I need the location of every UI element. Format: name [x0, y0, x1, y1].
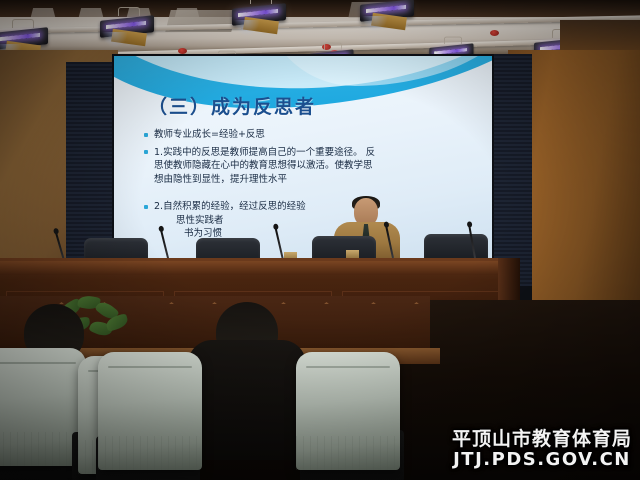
light-yoke [444, 37, 462, 44]
bullet-dot-icon [144, 133, 148, 137]
bullet-line: 教师专业成长=经验+反思 [154, 128, 478, 142]
light-yoke [12, 19, 34, 28]
photo-scene: （三）成为反思者 教师专业成长=经验+反思 1.实践中的反思是教师提高自己的一个… [0, 0, 640, 480]
presentation-slide: （三）成为反思者 教师专业成长=经验+反思 1.实践中的反思是教师提高自己的一个… [114, 56, 492, 258]
audience-person-body [188, 340, 306, 460]
slide-bullet-item: 教师专业成长=经验+反思 [142, 128, 478, 142]
bullet-line: 思性实践者 [154, 214, 478, 228]
stage-light [100, 12, 158, 42]
watermark-url: JTJ.PDS.GOV.CN [452, 450, 632, 470]
bullet-line: 想由隐性到显性，提升理性水平 [154, 173, 478, 187]
light-yoke [324, 43, 342, 50]
slide-bullet-list: 教师专业成长=经验+反思 1.实践中的反思是教师提高自己的一个重要途径。 反 思… [142, 128, 478, 245]
bullet-dot-icon [144, 150, 148, 154]
slide-bullet-item: 1.实践中的反思是教师提高自己的一个重要途径。 反 思使教师隐藏在心中的教育思想… [142, 146, 478, 187]
stage-light [232, 0, 290, 30]
light-glow [362, 16, 388, 32]
slide-title: （三）成为反思者 [148, 92, 316, 119]
light-glow [102, 32, 128, 48]
projection-screen: （三）成为反思者 教师专业成长=经验+反思 1.实践中的反思是教师提高自己的一个… [112, 54, 494, 260]
wall-chevron-ornament [352, 302, 438, 320]
light-yoke [118, 7, 140, 16]
light-glow [234, 20, 260, 36]
watermark-chinese: 平顶山市教育体育局 [452, 429, 632, 450]
audience-chair-cover [296, 352, 400, 470]
podium-tabletop [0, 261, 520, 275]
bullet-dot-icon [144, 205, 148, 209]
bullet-line: 1.实践中的反思是教师提高自己的一个重要途径。 反 [154, 146, 478, 160]
wall-chevron-ornament [262, 302, 348, 320]
broadcaster-watermark: 平顶山市教育体育局 JTJ.PDS.GOV.CN [452, 429, 632, 470]
bullet-line: 思使教师隐藏在心中的教育思想得以激活。使教学思 [154, 159, 478, 173]
bullet-line: 2.自然积累的经验，经过反思的经验 [154, 200, 478, 214]
audience-chair-cover [98, 352, 202, 470]
ceiling-notch [30, 8, 56, 20]
light-yoke [250, 0, 272, 4]
stage-light [360, 0, 418, 26]
smoke-detector-icon [490, 30, 499, 36]
